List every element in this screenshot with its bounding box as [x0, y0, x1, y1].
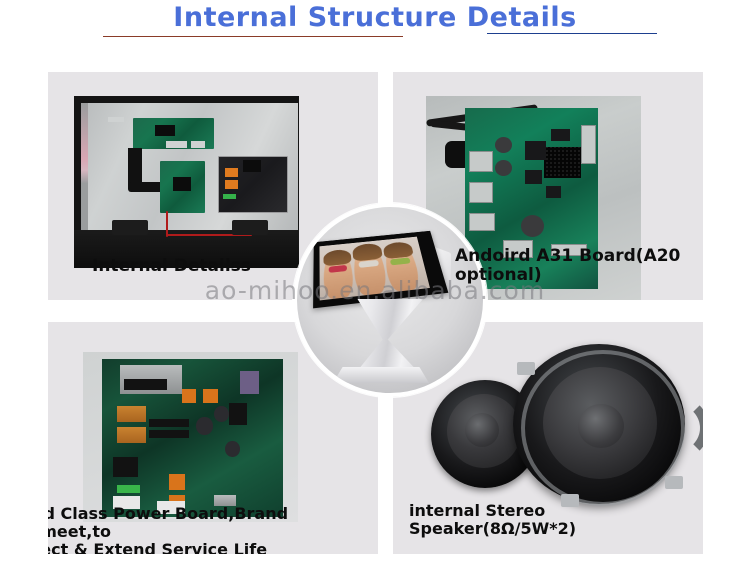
- android-board-chip: [173, 177, 191, 191]
- ic-chip-row-2: [149, 430, 189, 438]
- plate-edge-strip: [81, 103, 88, 237]
- speaker-large-dustcap: [578, 404, 624, 448]
- usb-port-1: [469, 151, 493, 171]
- caption-internal-details: Internal Detailss: [92, 257, 251, 276]
- usb-port-2: [469, 182, 493, 202]
- qc-sticker-green: [117, 485, 140, 493]
- title-rule-left: [103, 36, 403, 37]
- soc-chip: [525, 141, 547, 159]
- title-rule-right: [487, 33, 657, 34]
- page-title: Internal Structure Details: [0, 2, 750, 33]
- speaker-mount-tab-top: [517, 362, 535, 375]
- choke-2: [203, 389, 217, 403]
- screen-figure-1-top: [329, 265, 347, 273]
- cpu-heatsink-grid: [544, 147, 581, 178]
- screen-figure-3-top: [390, 258, 410, 266]
- electrolytic-cap-2: [214, 406, 228, 422]
- page-header: Internal Structure Details: [0, 0, 750, 46]
- memory-chip-2: [525, 170, 542, 184]
- transformer-1: [117, 406, 146, 422]
- control-board-chip: [155, 125, 175, 135]
- screen-figure-3-hair: [382, 241, 414, 259]
- ribbon-cable-bend: [128, 182, 164, 192]
- choke-1: [182, 389, 196, 403]
- ic-chip-row: [149, 419, 189, 427]
- page-root: Internal Structure Details: [0, 0, 750, 579]
- mosfet-row: [124, 379, 167, 390]
- screen-figure-1-hair: [323, 249, 351, 267]
- transformer-2: [117, 427, 146, 443]
- caption-power-board: World Class Power Board,Brand Megmeet,to…: [48, 505, 378, 554]
- screen-figure-2-top: [359, 260, 379, 268]
- speaker-small-dustcap: [465, 413, 499, 447]
- kiosk-stand-column: [339, 299, 423, 377]
- electrolytic-cap-3: [225, 441, 239, 457]
- chassis-speaker-right: [232, 220, 268, 235]
- connector-black: [229, 403, 247, 425]
- lvds-connector: [581, 125, 596, 164]
- vga-connector: [166, 141, 186, 148]
- screen-figure-2-hair: [352, 243, 383, 262]
- electrolytic-cap-1: [196, 417, 212, 434]
- power-transformer-2: [225, 180, 239, 189]
- power-board-label: [223, 194, 237, 199]
- memory-chip-3: [546, 186, 561, 198]
- relay: [113, 457, 138, 478]
- caption-stereo-speaker: internal Stereo Speaker(8Ω/5W*2): [409, 502, 703, 538]
- megmeet-power-board: [102, 359, 283, 517]
- power-transformer-1: [225, 168, 239, 177]
- kiosk-stand-base: [333, 367, 429, 383]
- photo-power-board: [83, 352, 298, 522]
- chassis-photo: [74, 96, 299, 268]
- connector-purple: [240, 371, 260, 393]
- power-heatsink: [243, 160, 261, 172]
- small-connector: [108, 117, 124, 122]
- capacitor-2: [495, 160, 512, 176]
- caption-android-board: Andoird A31 Board(A20 optional): [455, 247, 703, 285]
- memory-chip-1: [551, 129, 570, 141]
- chassis-speaker-left: [112, 220, 148, 235]
- photo-internal-details: [74, 96, 299, 268]
- hdmi-connector: [191, 141, 205, 148]
- choke-3: [169, 474, 185, 490]
